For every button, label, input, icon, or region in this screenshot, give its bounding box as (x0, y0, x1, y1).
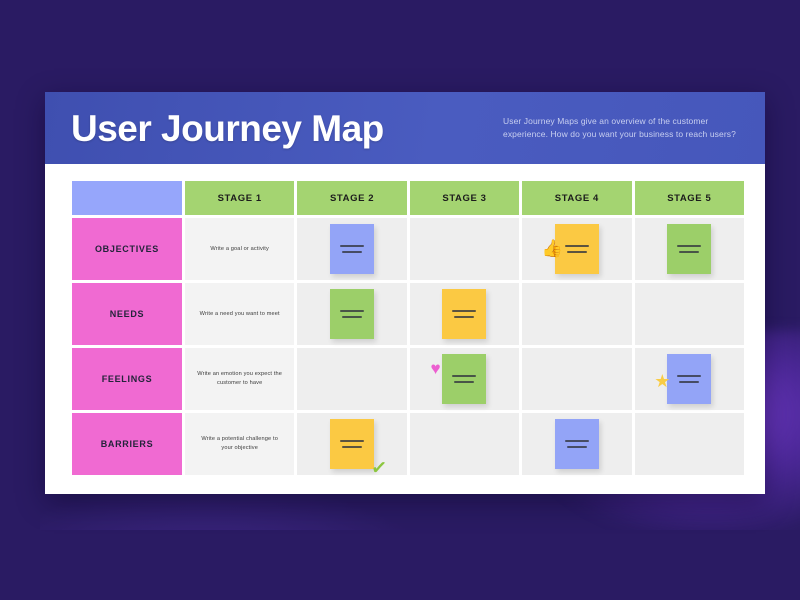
grid-cell-r3-c3[interactable]: ♥ (410, 348, 519, 410)
sticky-note-wrap (555, 419, 599, 469)
sticky-note-wrap: ★ (667, 354, 711, 404)
cell-prompt-text: Write a need you want to meet (185, 310, 294, 319)
grid-cell-r2-c3[interactable] (410, 283, 519, 345)
heart-icon: ♥ (430, 360, 440, 377)
row-label-feelings[interactable]: FEELINGS (72, 348, 182, 410)
journey-grid: STAGE 1STAGE 2STAGE 3STAGE 4STAGE 5 OBJE… (69, 178, 747, 478)
cell-prompt-text: Write an emotion you expect the customer… (185, 370, 294, 388)
grid-cell-r2-c2[interactable] (297, 283, 406, 345)
note-text-line (565, 245, 589, 247)
user-journey-map-poster: User Journey Map User Journey Maps give … (45, 92, 765, 494)
background-bottom-band (0, 530, 800, 600)
grid-cell-r2-c5[interactable] (635, 283, 744, 345)
note-text-line (340, 245, 364, 247)
grid-cell-r3-c2[interactable] (297, 348, 406, 410)
note-text-line (677, 245, 701, 247)
sticky-note-green[interactable] (442, 354, 486, 404)
note-text-line (567, 251, 587, 253)
grid-cell-r4-c4[interactable] (522, 413, 631, 475)
background-glow-left (40, 480, 460, 600)
note-text-line (454, 381, 474, 383)
stage-header-2[interactable]: STAGE 2 (297, 181, 406, 215)
stage-header-5[interactable]: STAGE 5 (635, 181, 744, 215)
poster-subtitle: User Journey Maps give an overview of th… (503, 115, 741, 141)
grid-cell-r3-c1[interactable]: Write an emotion you expect the customer… (185, 348, 294, 410)
note-text-line (454, 316, 474, 318)
note-text-line (340, 440, 364, 442)
stage-header-4[interactable]: STAGE 4 (522, 181, 631, 215)
note-text-line (452, 310, 476, 312)
note-text-line (679, 251, 699, 253)
grid-header-row-group: STAGE 1STAGE 2STAGE 3STAGE 4STAGE 5 (72, 181, 744, 215)
grid-cell-r4-c3[interactable] (410, 413, 519, 475)
grid-cell-r1-c2[interactable] (297, 218, 406, 280)
sticky-note-green[interactable] (667, 224, 711, 274)
grid-cell-r1-c1[interactable]: Write a goal or activity (185, 218, 294, 280)
note-text-line (677, 375, 701, 377)
sticky-note-blue[interactable] (330, 224, 374, 274)
sticky-note-yellow[interactable] (555, 224, 599, 274)
sticky-note-wrap: 👍 (555, 224, 599, 274)
grid-cell-r4-c2[interactable]: ✓ (297, 413, 406, 475)
grid-cell-r2-c4[interactable] (522, 283, 631, 345)
note-text-line (452, 375, 476, 377)
sticky-note-wrap (442, 289, 486, 339)
poster-header: User Journey Map User Journey Maps give … (45, 92, 765, 164)
grid-cell-r3-c5[interactable]: ★ (635, 348, 744, 410)
grid-cell-r3-c4[interactable] (522, 348, 631, 410)
stage-header-1[interactable]: STAGE 1 (185, 181, 294, 215)
sticky-note-wrap (330, 224, 374, 274)
row-label-barriers[interactable]: BARRIERS (72, 413, 182, 475)
grid-corner-cell (72, 181, 182, 215)
sticky-note-wrap (330, 289, 374, 339)
grid-row: OBJECTIVESWrite a goal or activity👍 (72, 218, 744, 280)
note-text-line (340, 310, 364, 312)
cell-prompt-text: Write a potential challenge to your obje… (185, 435, 294, 453)
grid-cell-r1-c5[interactable] (635, 218, 744, 280)
cell-prompt-text: Write a goal or activity (185, 245, 294, 254)
sticky-note-yellow[interactable] (330, 419, 374, 469)
grid-cell-r1-c3[interactable] (410, 218, 519, 280)
grid-cell-r2-c1[interactable]: Write a need you want to meet (185, 283, 294, 345)
sticky-note-wrap: ✓ (330, 419, 374, 469)
sticky-note-wrap: ♥ (442, 354, 486, 404)
note-text-line (342, 316, 362, 318)
sticky-note-green[interactable] (330, 289, 374, 339)
note-text-line (342, 251, 362, 253)
note-text-line (342, 446, 362, 448)
page-title: User Journey Map (71, 110, 384, 147)
note-text-line (679, 381, 699, 383)
grid-row: NEEDSWrite a need you want to meet (72, 283, 744, 345)
sticky-note-blue[interactable] (555, 419, 599, 469)
grid-row: FEELINGSWrite an emotion you expect the … (72, 348, 744, 410)
grid-cell-r4-c1[interactable]: Write a potential challenge to your obje… (185, 413, 294, 475)
journey-grid-area: STAGE 1STAGE 2STAGE 3STAGE 4STAGE 5 OBJE… (45, 164, 765, 494)
note-text-line (567, 446, 587, 448)
grid-header-row: STAGE 1STAGE 2STAGE 3STAGE 4STAGE 5 (72, 181, 744, 215)
note-text-line (565, 440, 589, 442)
stage-header-3[interactable]: STAGE 3 (410, 181, 519, 215)
row-label-needs[interactable]: NEEDS (72, 283, 182, 345)
grid-row: BARRIERSWrite a potential challenge to y… (72, 413, 744, 475)
sticky-note-wrap (667, 224, 711, 274)
grid-cell-r4-c5[interactable] (635, 413, 744, 475)
row-label-objectives[interactable]: OBJECTIVES (72, 218, 182, 280)
sticky-note-blue[interactable] (667, 354, 711, 404)
sticky-note-yellow[interactable] (442, 289, 486, 339)
grid-cell-r1-c4[interactable]: 👍 (522, 218, 631, 280)
grid-body: OBJECTIVESWrite a goal or activity👍NEEDS… (72, 218, 744, 475)
